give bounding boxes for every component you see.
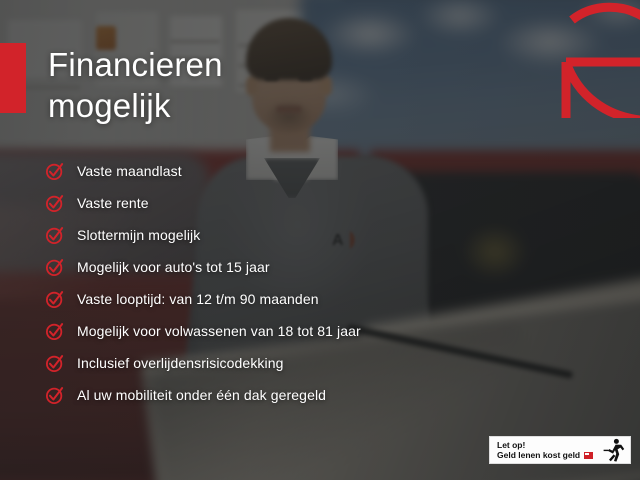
check-circle-icon: [45, 354, 64, 373]
list-item-label: Mogelijk voor auto's tot 15 jaar: [77, 259, 270, 275]
list-item-label: Al uw mobiliteit onder één dak geregeld: [77, 387, 326, 403]
warning-badge: Let op! Geld lenen kost geld: [489, 436, 631, 464]
list-item-label: Vaste maandlast: [77, 163, 182, 179]
title-line-2: mogelijk: [48, 85, 468, 126]
check-circle-icon: [45, 194, 64, 213]
check-circle-icon: [45, 226, 64, 245]
warning-line-2: Geld lenen kost geld: [497, 450, 580, 460]
list-item-label: Mogelijk voor volwassenen van 18 tot 81 …: [77, 323, 361, 339]
promo-banner: A Financieren mogelijk: [0, 0, 640, 480]
list-item: Inclusief overlijdensrisicodekking: [45, 347, 605, 379]
list-item: Al uw mobiliteit onder één dak geregeld: [45, 379, 605, 411]
page-title: Financieren mogelijk: [48, 44, 468, 126]
check-circle-icon: [45, 322, 64, 341]
list-item: Vaste looptijd: van 12 t/m 90 maanden: [45, 283, 605, 315]
walking-person-icon: [603, 438, 625, 462]
title-line-1: Financieren: [48, 46, 223, 83]
list-item: Slottermijn mogelijk: [45, 219, 605, 251]
feature-checklist: Vaste maandlast Vaste rente Slottermijn …: [45, 155, 605, 411]
list-item: Mogelijk voor auto's tot 15 jaar: [45, 251, 605, 283]
check-circle-icon: [45, 258, 64, 277]
list-item-label: Vaste looptijd: van 12 t/m 90 maanden: [77, 291, 319, 307]
list-item-label: Slottermijn mogelijk: [77, 227, 200, 243]
list-item: Vaste maandlast: [45, 155, 605, 187]
list-item: Vaste rente: [45, 187, 605, 219]
check-circle-icon: [45, 290, 64, 309]
warning-badge-text: Let op! Geld lenen kost geld: [497, 440, 601, 460]
credit-card-icon: [584, 452, 593, 459]
list-item-label: Inclusief overlijdensrisicodekking: [77, 355, 284, 371]
warning-line-1: Let op!: [497, 440, 601, 450]
warning-line-2-row: Geld lenen kost geld: [497, 450, 601, 460]
check-circle-icon: [45, 386, 64, 405]
check-circle-icon: [45, 162, 64, 181]
list-item-label: Vaste rente: [77, 195, 149, 211]
list-item: Mogelijk voor volwassenen van 18 tot 81 …: [45, 315, 605, 347]
